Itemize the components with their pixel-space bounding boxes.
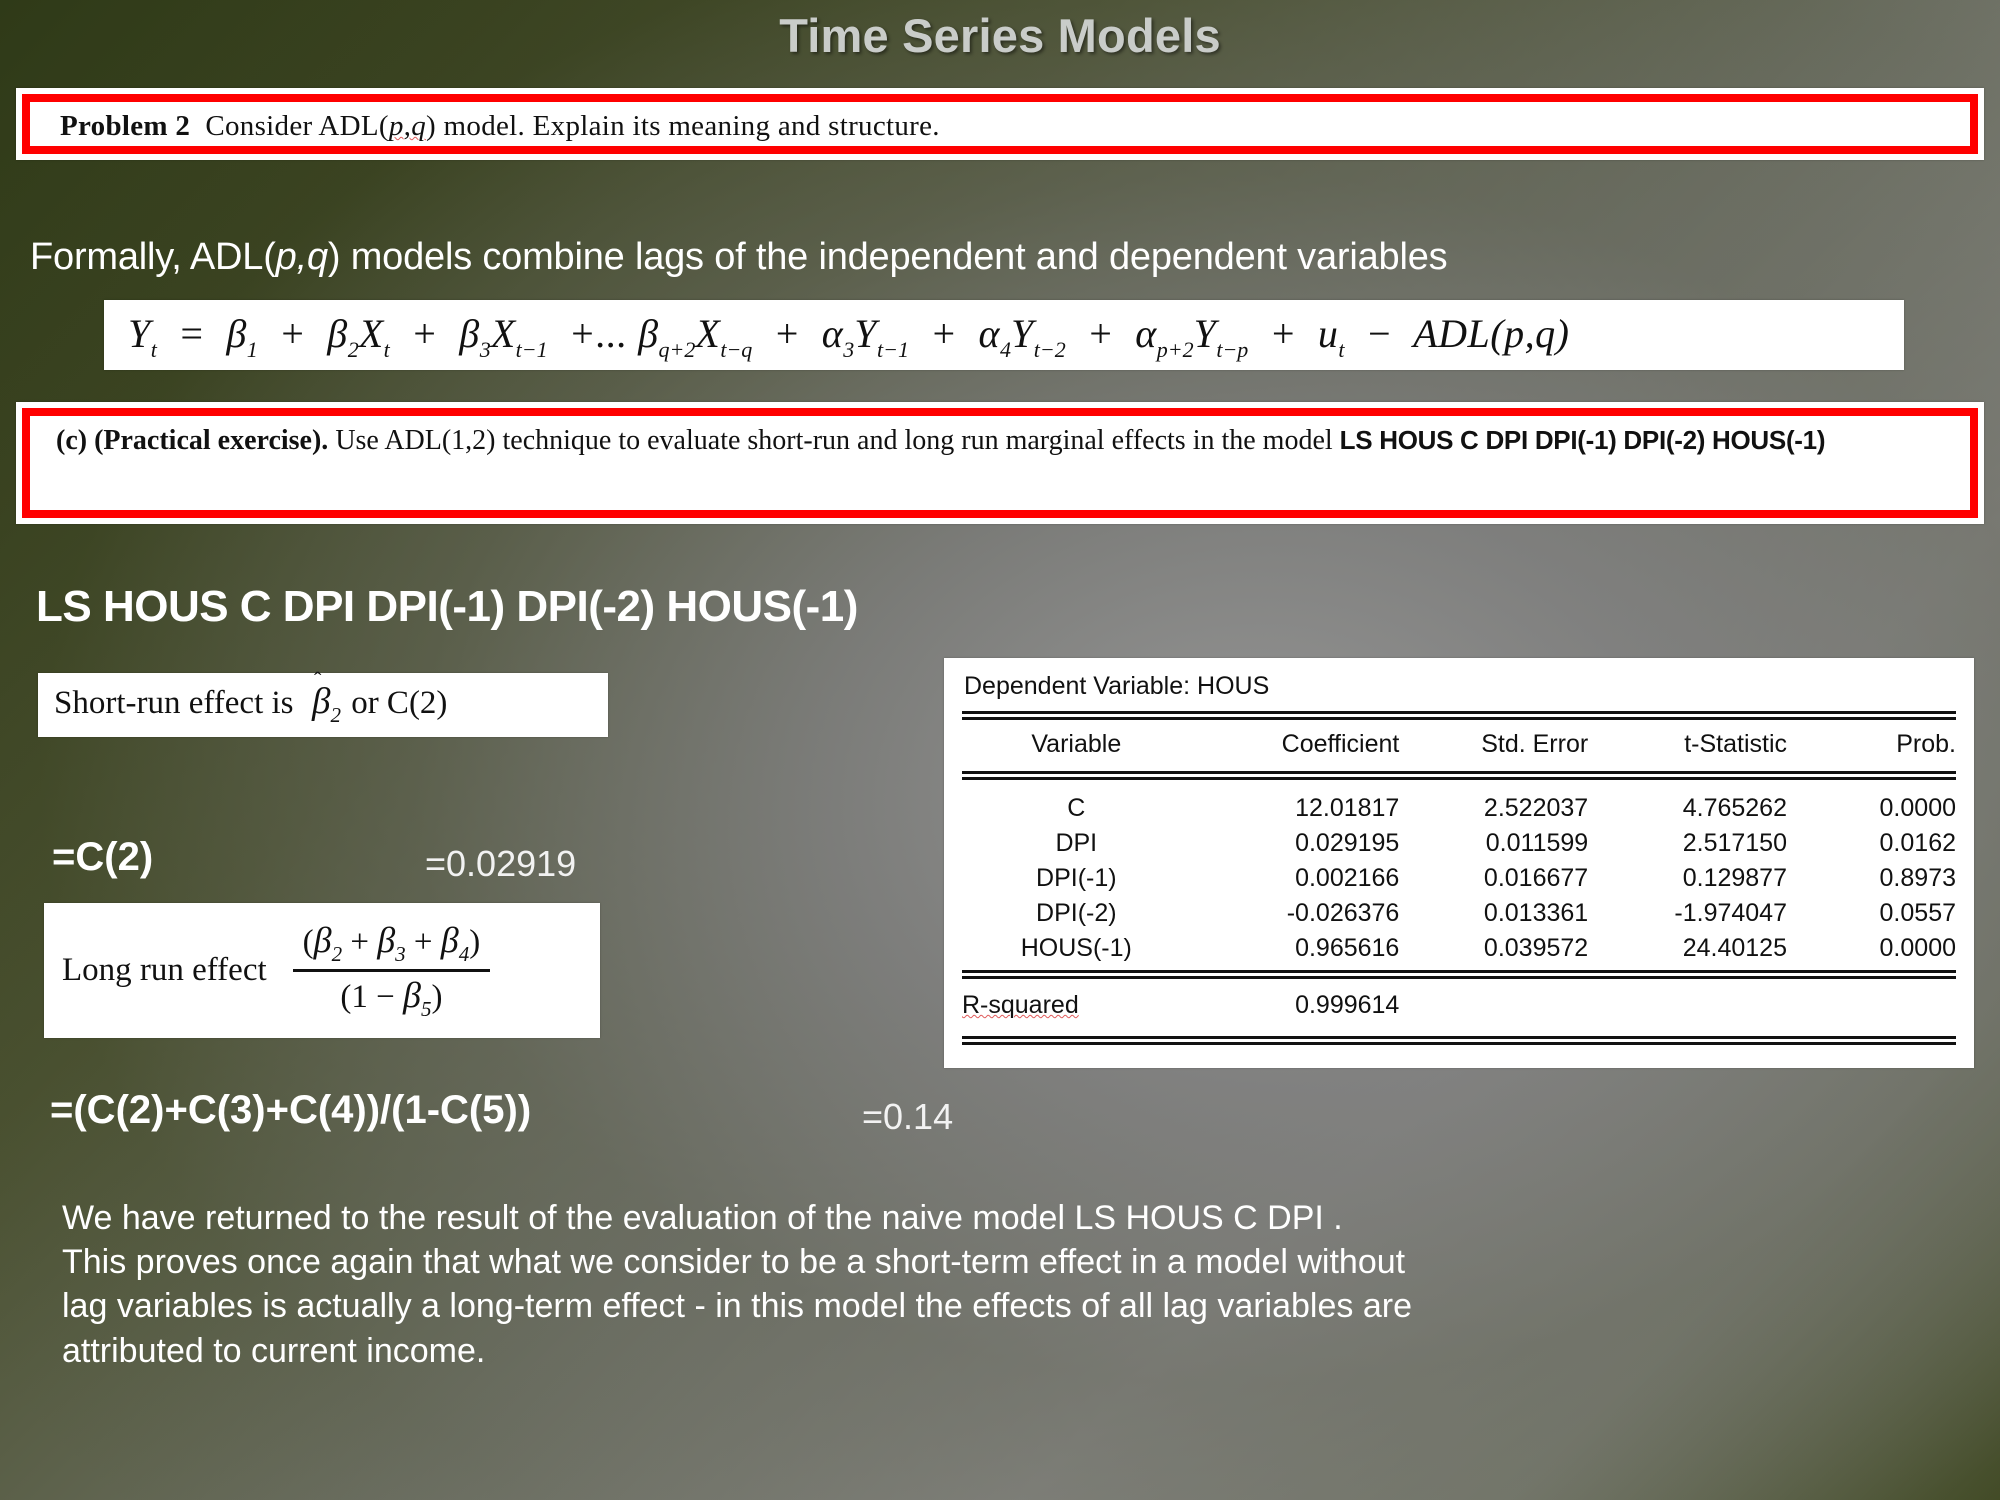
conclusion-line-1: We have returned to the result of the ev… [62,1196,1962,1240]
cell-variable: C [962,784,1191,826]
practical-exercise-box: (c) (Practical exercise). Use ADL(1,2) t… [16,402,1984,524]
table-rule-bottom [962,1036,1956,1045]
long-run-label: Long run effect [62,952,267,989]
eq-op-ellipsis: +... [558,311,628,356]
table-rule-stats [962,970,1956,979]
practical-command: LS HOUS C DPI DPI(-1) DPI(-2) HOUS(-1) [1340,425,1826,455]
eq-op-plus6: + [1259,311,1308,356]
cell-std-error: 0.039572 [1399,931,1588,966]
column-header-variable: Variable [962,724,1191,767]
beta-subscript: 2 [330,703,341,727]
cell-std-error: 0.011599 [1399,826,1588,861]
cell-prob: 0.0162 [1787,826,1956,861]
red-frame: Problem 2 Consider ADL(p,q) model. Expla… [22,94,1978,154]
cell-std-error: 2.522037 [1399,784,1588,826]
short-run-effect-text: Short-run effect is ˆβ2 or C(2) [38,673,608,728]
table-row: DPI(-2) -0.026376 0.013361 -1.974047 0.0… [962,896,1956,931]
cell-prob: 0.0557 [1787,896,1956,931]
formally-line: Formally, ADL(p,q) models combine lags o… [30,236,1447,279]
cell-std-error: 0.013361 [1399,896,1588,931]
conclusion-line-4: attributed to current income. [62,1329,1962,1373]
cell-t-statistic: -1.974047 [1588,896,1787,931]
cell-coefficient: -0.026376 [1191,896,1400,931]
cell-variable: HOUS(-1) [962,931,1191,966]
eq-term-alphap2Ytp: αp+2Yt−p [1135,311,1248,356]
eq-term-beta1: β1 [226,311,257,356]
eq-term-alpha3Yt1: α3Yt−1 [822,311,909,356]
long-run-effect-card: Long run effect (β2 + β3 + β4) (1 − β5) [44,903,600,1038]
cell-t-statistic: 0.129877 [1588,861,1787,896]
cell-prob: 0.0000 [1787,931,1956,966]
cell-std-error: 0.016677 [1399,861,1588,896]
regression-table: Variable Coefficient Std. Error t-Statis… [962,724,1956,767]
problem-statement-text: Problem 2 Consider ADL(p,q) model. Expla… [30,102,1970,143]
column-header-coefficient: Coefficient [1191,724,1400,767]
eq-op-plus2: + [400,311,449,356]
cell-t-statistic: 4.765262 [1588,784,1787,826]
table-row: DPI(-1) 0.002166 0.016677 0.129877 0.897… [962,861,1956,896]
beta-hat-symbol: ˆβ2 [310,680,343,728]
table-rule-header [962,771,1956,780]
practical-lead: (c) (Practical exercise). [56,425,328,456]
problem-statement-box: Problem 2 Consider ADL(p,q) model. Expla… [16,88,1984,160]
long-run-expression: =(C(2)+C(3)+C(4))/(1-C(5)) [50,1088,531,1133]
regression-table-body: C 12.01817 2.522037 4.765262 0.0000 DPI … [962,784,1956,966]
table-head: Variable Coefficient Std. Error t-Statis… [962,724,1956,767]
problem-text-after: ) model. Explain its meaning and structu… [426,110,940,142]
formally-part2: ) models combine lags of the independent… [328,236,1448,278]
eq-term-betaq2Xtq: βq+2Xt−q [638,311,752,356]
eviews-table: Dependent Variable: HOUS Variable Coeffi… [962,672,1956,1045]
problem-label: Problem 2 [60,110,190,142]
table-body: C 12.01817 2.522037 4.765262 0.0000 DPI … [962,784,1956,966]
cell-variable: DPI [962,826,1191,861]
long-run-denominator: (1 − β5) [293,972,491,1020]
table-rule-top [962,711,1956,720]
r-squared-value: 0.999614 [1191,991,1400,1020]
r-squared-row: R-squared 0.999614 [962,983,1956,1032]
short-run-value: =0.02919 [425,843,576,885]
short-run-label-before: Short-run effect is [54,685,294,721]
eq-op-equals: = [167,311,216,356]
cell-coefficient: 0.002166 [1191,861,1400,896]
column-header-std-error: Std. Error [1399,724,1588,767]
column-header-prob: Prob. [1787,724,1956,767]
problem-params: p,q [389,110,426,142]
practical-body: Use ADL(1,2) technique to evaluate short… [335,425,1332,456]
short-run-expression: =C(2) [52,835,153,880]
table-header-row: Variable Coefficient Std. Error t-Statis… [962,724,1956,767]
dependent-variable-label: Dependent Variable: HOUS [962,672,1956,707]
formally-part1: Formally, ADL( [30,236,276,278]
eq-label-adl: ADL(p,q) [1413,311,1569,356]
long-run-numerator: (β2 + β3 + β4) [293,922,491,972]
table-row: DPI 0.029195 0.011599 2.517150 0.0162 [962,826,1956,861]
hat-accent-icon: ˆ [314,667,321,693]
cell-coefficient: 0.029195 [1191,826,1400,861]
cell-variable: DPI(-1) [962,861,1191,896]
cell-t-statistic: 24.40125 [1588,931,1787,966]
adl-equation: Yt = β1 + β2Xt + β3Xt−1 +... βq+2Xt−q + … [104,300,1904,363]
eq-term-alpha4Yt2: α4Yt−2 [979,311,1066,356]
problem-text-before: Consider ADL( [205,110,389,142]
short-run-label-after: or C(2) [351,685,447,721]
eq-op-minus: − [1355,311,1404,356]
eq-term-Yt: Yt [128,311,157,356]
table-row: HOUS(-1) 0.965616 0.039572 24.40125 0.00… [962,931,1956,966]
conclusion-line-2: This proves once again that what we cons… [62,1240,1962,1284]
short-run-effect-card: Short-run effect is ˆβ2 or C(2) [38,673,608,737]
eq-op-plus1: + [268,311,317,356]
eq-op-plus3: + [763,311,812,356]
conclusion-line-3: lag variables is actually a long-term ef… [62,1284,1962,1328]
long-run-effect-inner: Long run effect (β2 + β3 + β4) (1 − β5) [44,903,600,1038]
eq-op-plus5: + [1076,311,1125,356]
eq-op-plus4: + [920,311,969,356]
conclusion-paragraph: We have returned to the result of the ev… [62,1196,1962,1373]
eviews-regression-output: Dependent Variable: HOUS Variable Coeffi… [944,658,1974,1068]
cell-coefficient: 12.01817 [1191,784,1400,826]
cell-prob: 0.0000 [1787,784,1956,826]
formally-params: p,q [276,236,328,278]
long-run-value: =0.14 [862,1096,953,1138]
long-run-fraction: (β2 + β3 + β4) (1 − β5) [293,922,491,1020]
column-header-t-statistic: t-Statistic [1588,724,1787,767]
red-frame: (c) (Practical exercise). Use ADL(1,2) t… [22,408,1978,518]
eq-term-beta3Xt1: β3Xt−1 [459,311,547,356]
slide-canvas: Time Series Models Problem 2 Consider AD… [0,0,2000,1500]
eq-term-ut: ut [1318,311,1345,356]
ls-command-heading: LS HOUS C DPI DPI(-1) DPI(-2) HOUS(-1) [36,582,858,632]
r-squared-label: R-squared [962,991,1191,1020]
eq-term-beta2Xt: β2Xt [327,311,389,356]
cell-prob: 0.8973 [1787,861,1956,896]
cell-coefficient: 0.965616 [1191,931,1400,966]
cell-variable: DPI(-2) [962,896,1191,931]
table-row: C 12.01817 2.522037 4.765262 0.0000 [962,784,1956,826]
page-title: Time Series Models [0,8,2000,63]
adl-equation-card: Yt = β1 + β2Xt + β3Xt−1 +... βq+2Xt−q + … [104,300,1904,370]
practical-exercise-text: (c) (Practical exercise). Use ADL(1,2) t… [30,416,1970,460]
cell-t-statistic: 2.517150 [1588,826,1787,861]
